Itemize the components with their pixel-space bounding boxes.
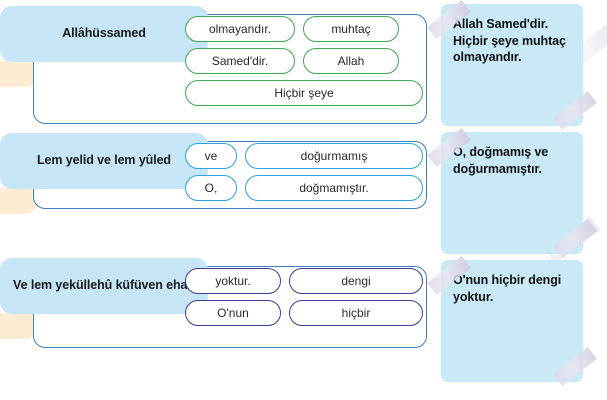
word-pill[interactable]: O'nun: [185, 300, 281, 326]
tape-icon: [553, 219, 597, 258]
tape-icon: [553, 347, 597, 386]
verse-label-text: Lem yelid ve lem yûled: [37, 153, 171, 168]
translation-note-text: O, doğmamış ve doğurmamıştır.: [453, 144, 573, 177]
translation-note-text: Allah Samed'dir. Hiçbir şeye muhtaç olma…: [453, 16, 573, 66]
verse-label-text: Allâhüssamed: [62, 26, 146, 41]
word-pill[interactable]: Samed'dir.: [185, 48, 295, 74]
translation-note: Allah Samed'dir. Hiçbir şeye muhtaç olma…: [441, 4, 583, 126]
word-pill-line: yoktur. dengi: [185, 268, 423, 294]
word-pill[interactable]: dengi: [289, 268, 423, 294]
verse-label-banner: Allâhüssamed: [0, 6, 208, 62]
word-pill-line: O, doğmamıştır.: [185, 175, 423, 201]
word-pill-line: Hiçbir şeye: [185, 80, 423, 106]
word-pill-area: yoktur. dengi O'nun hiçbir: [185, 268, 423, 326]
word-pill[interactable]: yoktur.: [185, 268, 281, 294]
word-pill[interactable]: Allah: [303, 48, 399, 74]
word-pill[interactable]: Hiçbir şeye: [185, 80, 423, 106]
worksheet-panel: Allâhüssamed olmayandır. muhtaç Samed'di…: [0, 0, 435, 400]
word-pill[interactable]: doğmamıştır.: [245, 175, 423, 201]
word-pill[interactable]: O,: [185, 175, 237, 201]
translation-note-text: O'nun hiçbir dengi yoktur.: [453, 272, 573, 305]
word-pill-area: olmayandır. muhtaç Samed'dir. Allah Hiçb…: [185, 16, 423, 106]
exercise-row: Allâhüssamed olmayandır. muhtaç Samed'di…: [0, 6, 435, 124]
word-pill-line: O'nun hiçbir: [185, 300, 423, 326]
word-pill[interactable]: muhtaç: [303, 16, 399, 42]
word-pill-line: Samed'dir. Allah: [185, 48, 423, 74]
translation-notes-column: Allah Samed'dir. Hiçbir şeye muhtaç olma…: [435, 0, 607, 400]
translation-note: O, doğmamış ve doğurmamıştır.: [441, 132, 583, 254]
word-pill[interactable]: doğurmamış: [245, 143, 423, 169]
tape-icon: [553, 91, 597, 130]
verse-label-text: Ve lem yeküllehû küfüven ehad: [13, 278, 195, 293]
verse-label-banner: Ve lem yeküllehû küfüven ehad: [0, 258, 208, 314]
translation-note: O'nun hiçbir dengi yoktur.: [441, 260, 583, 382]
exercise-row: Ve lem yeküllehû küfüven ehad yoktur. de…: [0, 258, 435, 350]
exercise-row: Lem yelid ve lem yûled ve doğurmamış O, …: [0, 133, 435, 211]
word-pill[interactable]: olmayandır.: [185, 16, 295, 42]
verse-label-banner: Lem yelid ve lem yûled: [0, 133, 208, 189]
word-pill-line: olmayandır. muhtaç: [185, 16, 423, 42]
word-pill[interactable]: ve: [185, 143, 237, 169]
word-pill-line: ve doğurmamış: [185, 143, 423, 169]
word-pill-area: ve doğurmamış O, doğmamıştır.: [185, 143, 423, 201]
word-pill[interactable]: hiçbir: [289, 300, 423, 326]
